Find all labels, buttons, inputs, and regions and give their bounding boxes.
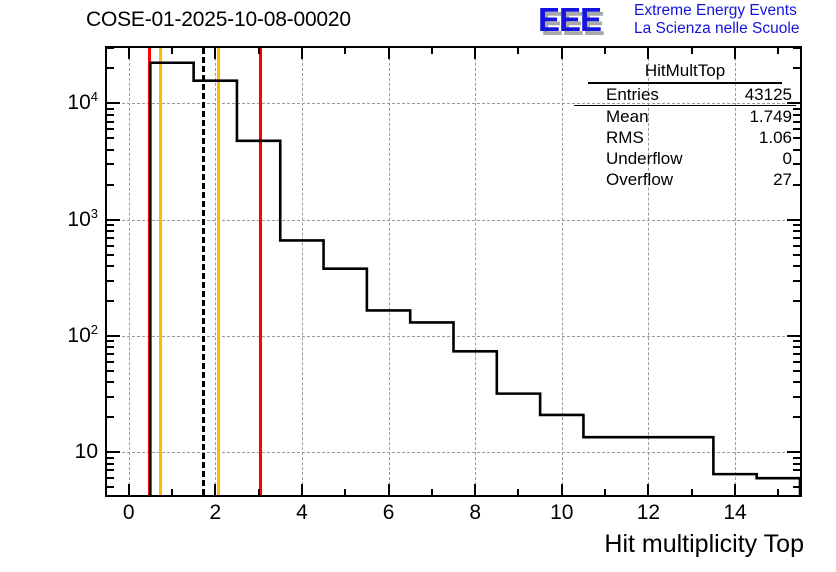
y-tick-minor bbox=[107, 477, 114, 479]
y-tick-minor bbox=[107, 346, 114, 348]
x-tick-major-top bbox=[128, 48, 130, 59]
stats-rows: Entries43125Mean1.749RMS1.06Underflow0Ov… bbox=[574, 84, 796, 190]
eee-logo-line2: La Scienza nelle Scuole bbox=[634, 20, 834, 38]
eee-logo-text: Extreme Energy Events La Scienza nelle S… bbox=[634, 2, 834, 38]
y-tick-minor-right bbox=[793, 361, 800, 363]
x-tick-major bbox=[474, 484, 476, 495]
x-tick-major-top bbox=[214, 48, 216, 59]
stats-row: Mean1.749 bbox=[574, 106, 796, 127]
eee-logo: EEE Extreme Energy Events La Scienza nel… bbox=[538, 2, 834, 42]
y-tick-minor bbox=[107, 463, 114, 465]
y-tick-minor bbox=[107, 149, 114, 151]
x-tick-minor bbox=[691, 489, 693, 495]
y-tick-minor bbox=[107, 245, 114, 247]
eee-logo-line1: Extreme Energy Events bbox=[634, 2, 834, 20]
y-tick-minor-right bbox=[793, 265, 800, 267]
y-tick-minor bbox=[107, 416, 114, 418]
stats-row: Overflow27 bbox=[574, 169, 796, 190]
y-tick-minor bbox=[107, 108, 114, 110]
y-tick-minor-right bbox=[793, 346, 800, 348]
x-tick-major bbox=[301, 484, 303, 495]
stats-row-value: 0 bbox=[783, 148, 792, 169]
x-axis-title: Hit multiplicity Top bbox=[604, 530, 804, 559]
stats-row: Entries43125 bbox=[574, 84, 796, 106]
y-tick-major bbox=[107, 102, 120, 104]
x-tick-major bbox=[734, 484, 736, 495]
stats-row-key: Underflow bbox=[606, 148, 683, 169]
x-tick-major bbox=[214, 484, 216, 495]
y-tick-minor-right bbox=[793, 48, 800, 49]
y-tick-minor-right bbox=[793, 416, 800, 418]
x-tick-major bbox=[128, 484, 130, 495]
y-tick-minor-right bbox=[793, 254, 800, 256]
y-tick-minor-right bbox=[793, 486, 800, 488]
x-tick-label: 10 bbox=[550, 501, 573, 525]
y-tick-minor bbox=[107, 265, 114, 267]
y-tick-minor bbox=[107, 137, 114, 139]
root-canvas: COSE-01-2025-10-08-00020 EEE Extreme Ene… bbox=[0, 0, 836, 572]
stats-row: RMS1.06 bbox=[574, 127, 796, 148]
stats-row-value: 43125 bbox=[745, 84, 792, 105]
y-tick-minor-right bbox=[793, 370, 800, 372]
y-tick-minor bbox=[107, 370, 114, 372]
y-tick-minor bbox=[107, 48, 114, 49]
y-tick-minor-right bbox=[793, 245, 800, 247]
y-tick-minor bbox=[107, 237, 114, 239]
x-tick-label: 2 bbox=[209, 501, 221, 525]
x-tick-minor-top bbox=[604, 48, 606, 54]
x-tick-label: 6 bbox=[383, 501, 395, 525]
y-tick-major bbox=[107, 451, 120, 453]
y-tick-major bbox=[107, 335, 120, 337]
y-tick-minor-right bbox=[793, 237, 800, 239]
x-tick-label: 14 bbox=[723, 501, 746, 525]
y-tick-minor-right bbox=[793, 280, 800, 282]
x-tick-major-top bbox=[647, 48, 649, 59]
x-tick-minor-top bbox=[258, 48, 260, 54]
x-tick-minor-top bbox=[517, 48, 519, 54]
x-tick-minor bbox=[171, 489, 173, 495]
y-tick-minor-right bbox=[793, 224, 800, 226]
stats-row-key: Overflow bbox=[606, 169, 673, 190]
stats-row-value: 1.749 bbox=[749, 106, 792, 127]
y-tick-minor bbox=[107, 230, 114, 232]
page-title: COSE-01-2025-10-08-00020 bbox=[86, 8, 351, 32]
x-tick-major-top bbox=[734, 48, 736, 59]
stats-row-value: 27 bbox=[773, 169, 792, 190]
x-tick-major bbox=[388, 484, 390, 495]
y-tick-minor bbox=[107, 254, 114, 256]
stats-title: HitMultTop bbox=[588, 60, 782, 84]
y-tick-minor-right bbox=[793, 300, 800, 302]
y-tick-major-right bbox=[787, 451, 800, 453]
x-tick-minor bbox=[344, 489, 346, 495]
y-tick-minor-right bbox=[793, 381, 800, 383]
y-tick-minor-right bbox=[793, 396, 800, 398]
stats-box: HitMultTop Entries43125Mean1.749RMS1.06U… bbox=[574, 60, 796, 190]
y-tick-minor bbox=[107, 224, 114, 226]
y-tick-minor bbox=[107, 128, 114, 130]
eee-logo-mark: EEE bbox=[538, 3, 601, 37]
x-tick-minor bbox=[258, 489, 260, 495]
x-tick-major-top bbox=[388, 48, 390, 59]
y-tick-major bbox=[107, 219, 120, 221]
x-tick-minor-top bbox=[691, 48, 693, 54]
x-tick-minor-top bbox=[777, 48, 779, 54]
y-tick-minor bbox=[107, 121, 114, 123]
x-tick-minor-top bbox=[431, 48, 433, 54]
y-tick-label: 103 bbox=[67, 208, 98, 232]
stats-row-key: RMS bbox=[606, 127, 644, 148]
y-tick-minor bbox=[107, 457, 114, 459]
x-tick-major bbox=[647, 484, 649, 495]
stats-row-key: Entries bbox=[606, 84, 659, 105]
y-tick-minor-right bbox=[793, 230, 800, 232]
stats-row-key: Mean bbox=[606, 106, 649, 127]
y-tick-minor bbox=[107, 340, 114, 342]
y-tick-minor-right bbox=[793, 463, 800, 465]
y-tick-label: 10 bbox=[75, 440, 98, 464]
stats-row: Underflow0 bbox=[574, 148, 796, 169]
y-tick-minor bbox=[107, 396, 114, 398]
x-tick-label: 4 bbox=[296, 501, 308, 525]
x-tick-label: 0 bbox=[123, 501, 135, 525]
x-tick-label: 12 bbox=[637, 501, 660, 525]
x-tick-major bbox=[561, 484, 563, 495]
y-tick-minor bbox=[107, 67, 114, 69]
x-tick-minor-top bbox=[344, 48, 346, 54]
y-tick-minor bbox=[107, 184, 114, 186]
y-tick-minor-right bbox=[793, 340, 800, 342]
y-tick-label: 104 bbox=[67, 91, 98, 115]
y-tick-minor-right bbox=[793, 477, 800, 479]
x-tick-minor bbox=[431, 489, 433, 495]
y-tick-minor-right bbox=[793, 457, 800, 459]
y-tick-minor bbox=[107, 163, 114, 165]
y-tick-minor bbox=[107, 300, 114, 302]
y-tick-minor bbox=[107, 381, 114, 383]
x-tick-minor bbox=[517, 489, 519, 495]
y-tick-minor bbox=[107, 353, 114, 355]
x-tick-major-top bbox=[561, 48, 563, 59]
x-tick-major-top bbox=[474, 48, 476, 59]
stats-row-value: 1.06 bbox=[759, 127, 792, 148]
y-tick-major-right bbox=[787, 219, 800, 221]
y-tick-minor bbox=[107, 114, 114, 116]
x-tick-minor bbox=[777, 489, 779, 495]
x-tick-label: 8 bbox=[469, 501, 481, 525]
x-tick-minor-top bbox=[171, 48, 173, 54]
y-tick-minor-right bbox=[793, 469, 800, 471]
y-tick-minor bbox=[107, 486, 114, 488]
y-tick-minor bbox=[107, 361, 114, 363]
y-tick-major-right bbox=[787, 335, 800, 337]
y-tick-minor-right bbox=[793, 353, 800, 355]
y-tick-minor bbox=[107, 280, 114, 282]
x-tick-major-top bbox=[301, 48, 303, 59]
y-tick-minor bbox=[107, 469, 114, 471]
y-tick-label: 102 bbox=[67, 324, 98, 348]
x-tick-minor bbox=[604, 489, 606, 495]
